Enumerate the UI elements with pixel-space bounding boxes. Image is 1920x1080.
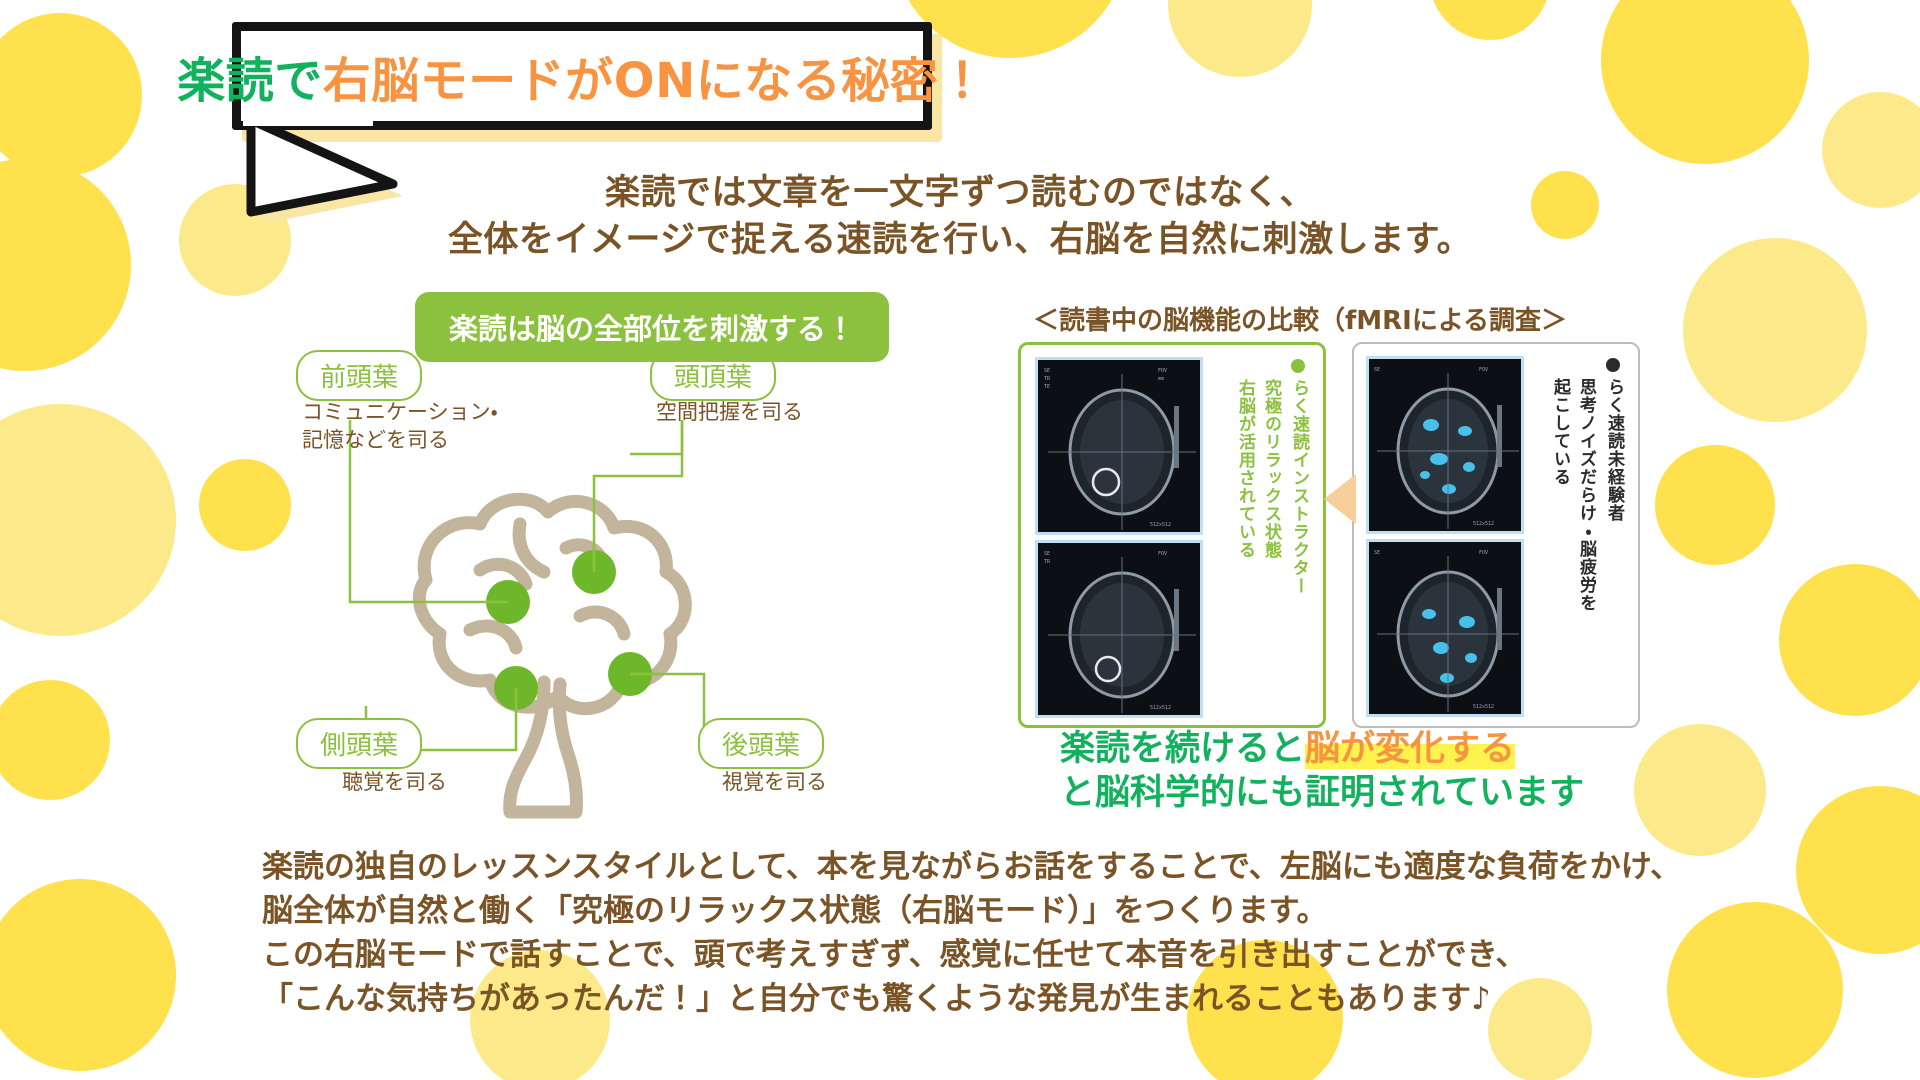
brain-scan-icon: SETRTE FOVmm 512x512 <box>1038 360 1203 535</box>
comparison-arrow-icon <box>1322 470 1356 528</box>
svg-text:TE: TE <box>1044 384 1050 390</box>
fmri-scan-image: SETR FOV 512x512 <box>1035 540 1203 718</box>
svg-text:FOV: FOV <box>1479 550 1488 556</box>
fmri-right-label-2: 思考ノイズだらけ・脳疲労を <box>1576 378 1596 612</box>
fmri-panel-instructor: SETRTE FOVmm 512x512 SETR <box>1018 342 1326 728</box>
decorative-dot <box>0 680 110 800</box>
bottom-line-1: 楽読の独自のレッスンスタイルとして、本を見ながらお話をすることで、左脳にも適度な… <box>262 845 1762 889</box>
svg-text:SE: SE <box>1374 550 1380 556</box>
svg-text:SE: SE <box>1044 551 1050 557</box>
fmri-left-label-2: 究極のリラックス状態 <box>1261 379 1281 559</box>
svg-text:SE: SE <box>1044 368 1050 374</box>
svg-text:FOV: FOV <box>1479 367 1488 373</box>
speech-bubble-tail-icon <box>243 120 423 230</box>
svg-text:FOV: FOV <box>1158 368 1167 374</box>
conclusion-line-2: と脳科学的にも証明されています <box>1060 772 1584 816</box>
lobe-desc-temporal: 聴覚を司る <box>342 768 447 796</box>
fmri-right-label-1: らく速読未経験者 <box>1604 378 1624 522</box>
fmri-scan-image: SETRTE FOVmm 512x512 <box>1035 357 1203 535</box>
fmri-left-label-1: らく速読インストラクター <box>1289 379 1309 595</box>
fmri-left-label-3: 右脳が活用されている <box>1235 379 1255 559</box>
decorative-dot <box>1601 0 1809 164</box>
fmri-scan-image: SEFOV512x512 <box>1366 356 1524 534</box>
decorative-dot <box>1779 564 1920 716</box>
svg-text:TR: TR <box>1044 376 1051 382</box>
fmri-section-heading: ＜読書中の脳機能の比較（fMRIによる調査＞ <box>1020 300 1580 337</box>
conclusion-line-1: 楽読を続けると脳が変化する <box>1060 728 1584 772</box>
svg-text:TR: TR <box>1044 559 1051 565</box>
conclusion-block: 楽読を続けると脳が変化する と脳科学的にも証明されています <box>1060 728 1584 816</box>
lobe-desc-parietal: 空間把握を司る <box>656 398 803 426</box>
decorative-dot <box>1168 0 1312 77</box>
svg-text:512x512: 512x512 <box>1150 522 1171 528</box>
brain-stimulation-badge: 楽読は脳の全部位を刺激する！ <box>415 292 889 362</box>
lobe-desc-frontal-line1: コミュニケーション・ <box>302 398 498 426</box>
title-part-orange: 右脳モードがONになる秘密！ <box>323 53 987 109</box>
svg-text:512x512: 512x512 <box>1150 705 1171 711</box>
lobe-desc-frontal: コミュニケーション・ 記憶などを司る <box>302 398 498 455</box>
bottom-line-4: 「こんな気持ちがあったんだ！」と自分でも驚くような発見が生まれることもあります♪ <box>262 977 1762 1021</box>
decorative-dot <box>1683 238 1867 422</box>
svg-text:FOV: FOV <box>1158 551 1167 557</box>
svg-text:mm: mm <box>1158 376 1164 382</box>
page-title: 楽読で右脳モードがONになる秘密！ <box>177 41 987 111</box>
infographic-canvas: 楽読で右脳モードがONになる秘密！ 楽読では文章を一文字ずつ読むのではなく、 全… <box>0 0 1920 1080</box>
brain-diagram: 前頭葉 コミュニケーション・ 記憶などを司る 頭頂葉 空間把握を司る 側頭葉 聴… <box>330 420 990 840</box>
title-part-green: 楽読で <box>177 53 323 109</box>
title-bubble-box: 楽読で右脳モードがONになる秘密！ <box>232 22 932 130</box>
bullet-icon-left <box>1291 359 1305 373</box>
lobe-label-occipital: 後頭葉 <box>698 718 824 769</box>
decorative-dot <box>1655 445 1775 565</box>
title-speech-bubble: 楽読で右脳モードがONになる秘密！ <box>232 22 932 130</box>
lobe-desc-occipital: 視覚を司る <box>722 768 827 796</box>
decorative-dot <box>0 404 176 636</box>
decorative-dot <box>1430 0 1550 40</box>
fmri-scan-column-left: SETRTE FOVmm 512x512 SETR <box>1035 357 1203 718</box>
svg-text:512x512: 512x512 <box>1473 704 1494 710</box>
svg-text:512x512: 512x512 <box>1473 521 1494 527</box>
conclusion-green-text: 楽読を続けると <box>1060 729 1305 769</box>
bottom-paragraph: 楽読の独自のレッスンスタイルとして、本を見ながらお話をすることで、左脳にも適度な… <box>262 845 1762 1021</box>
lobe-label-frontal: 前頭葉 <box>296 350 422 401</box>
decorative-dot <box>0 879 176 1071</box>
fmri-panel-beginner: SEFOV512x512 <box>1352 342 1640 728</box>
svg-text:SE: SE <box>1374 367 1380 373</box>
decorative-dot <box>1634 724 1766 856</box>
bottom-line-2: 脳全体が自然と働く「究極のリラックス状態（右脳モード）」をつくります。 <box>262 889 1762 933</box>
decorative-dot <box>199 459 291 551</box>
fmri-right-label-3: 起こしている <box>1550 378 1570 486</box>
brain-scan-icon: SEFOV512x512 <box>1369 542 1524 717</box>
brain-scan-icon: SETR FOV 512x512 <box>1038 543 1203 718</box>
lobe-desc-frontal-line2: 記憶などを司る <box>302 426 498 454</box>
bottom-line-3: この右脳モードで話すことで、頭で考えすぎず、感覚に任せて本音を引き出すことができ… <box>262 933 1762 977</box>
lobe-label-temporal: 側頭葉 <box>296 718 422 769</box>
conclusion-highlight-text: 脳が変化する <box>1305 729 1515 769</box>
fmri-scan-column-right: SEFOV512x512 <box>1366 356 1524 717</box>
decorative-dot <box>0 13 142 177</box>
brain-scan-icon: SEFOV512x512 <box>1369 359 1524 534</box>
fmri-scan-image: SEFOV512x512 <box>1366 539 1524 717</box>
bullet-icon-right <box>1606 358 1620 372</box>
